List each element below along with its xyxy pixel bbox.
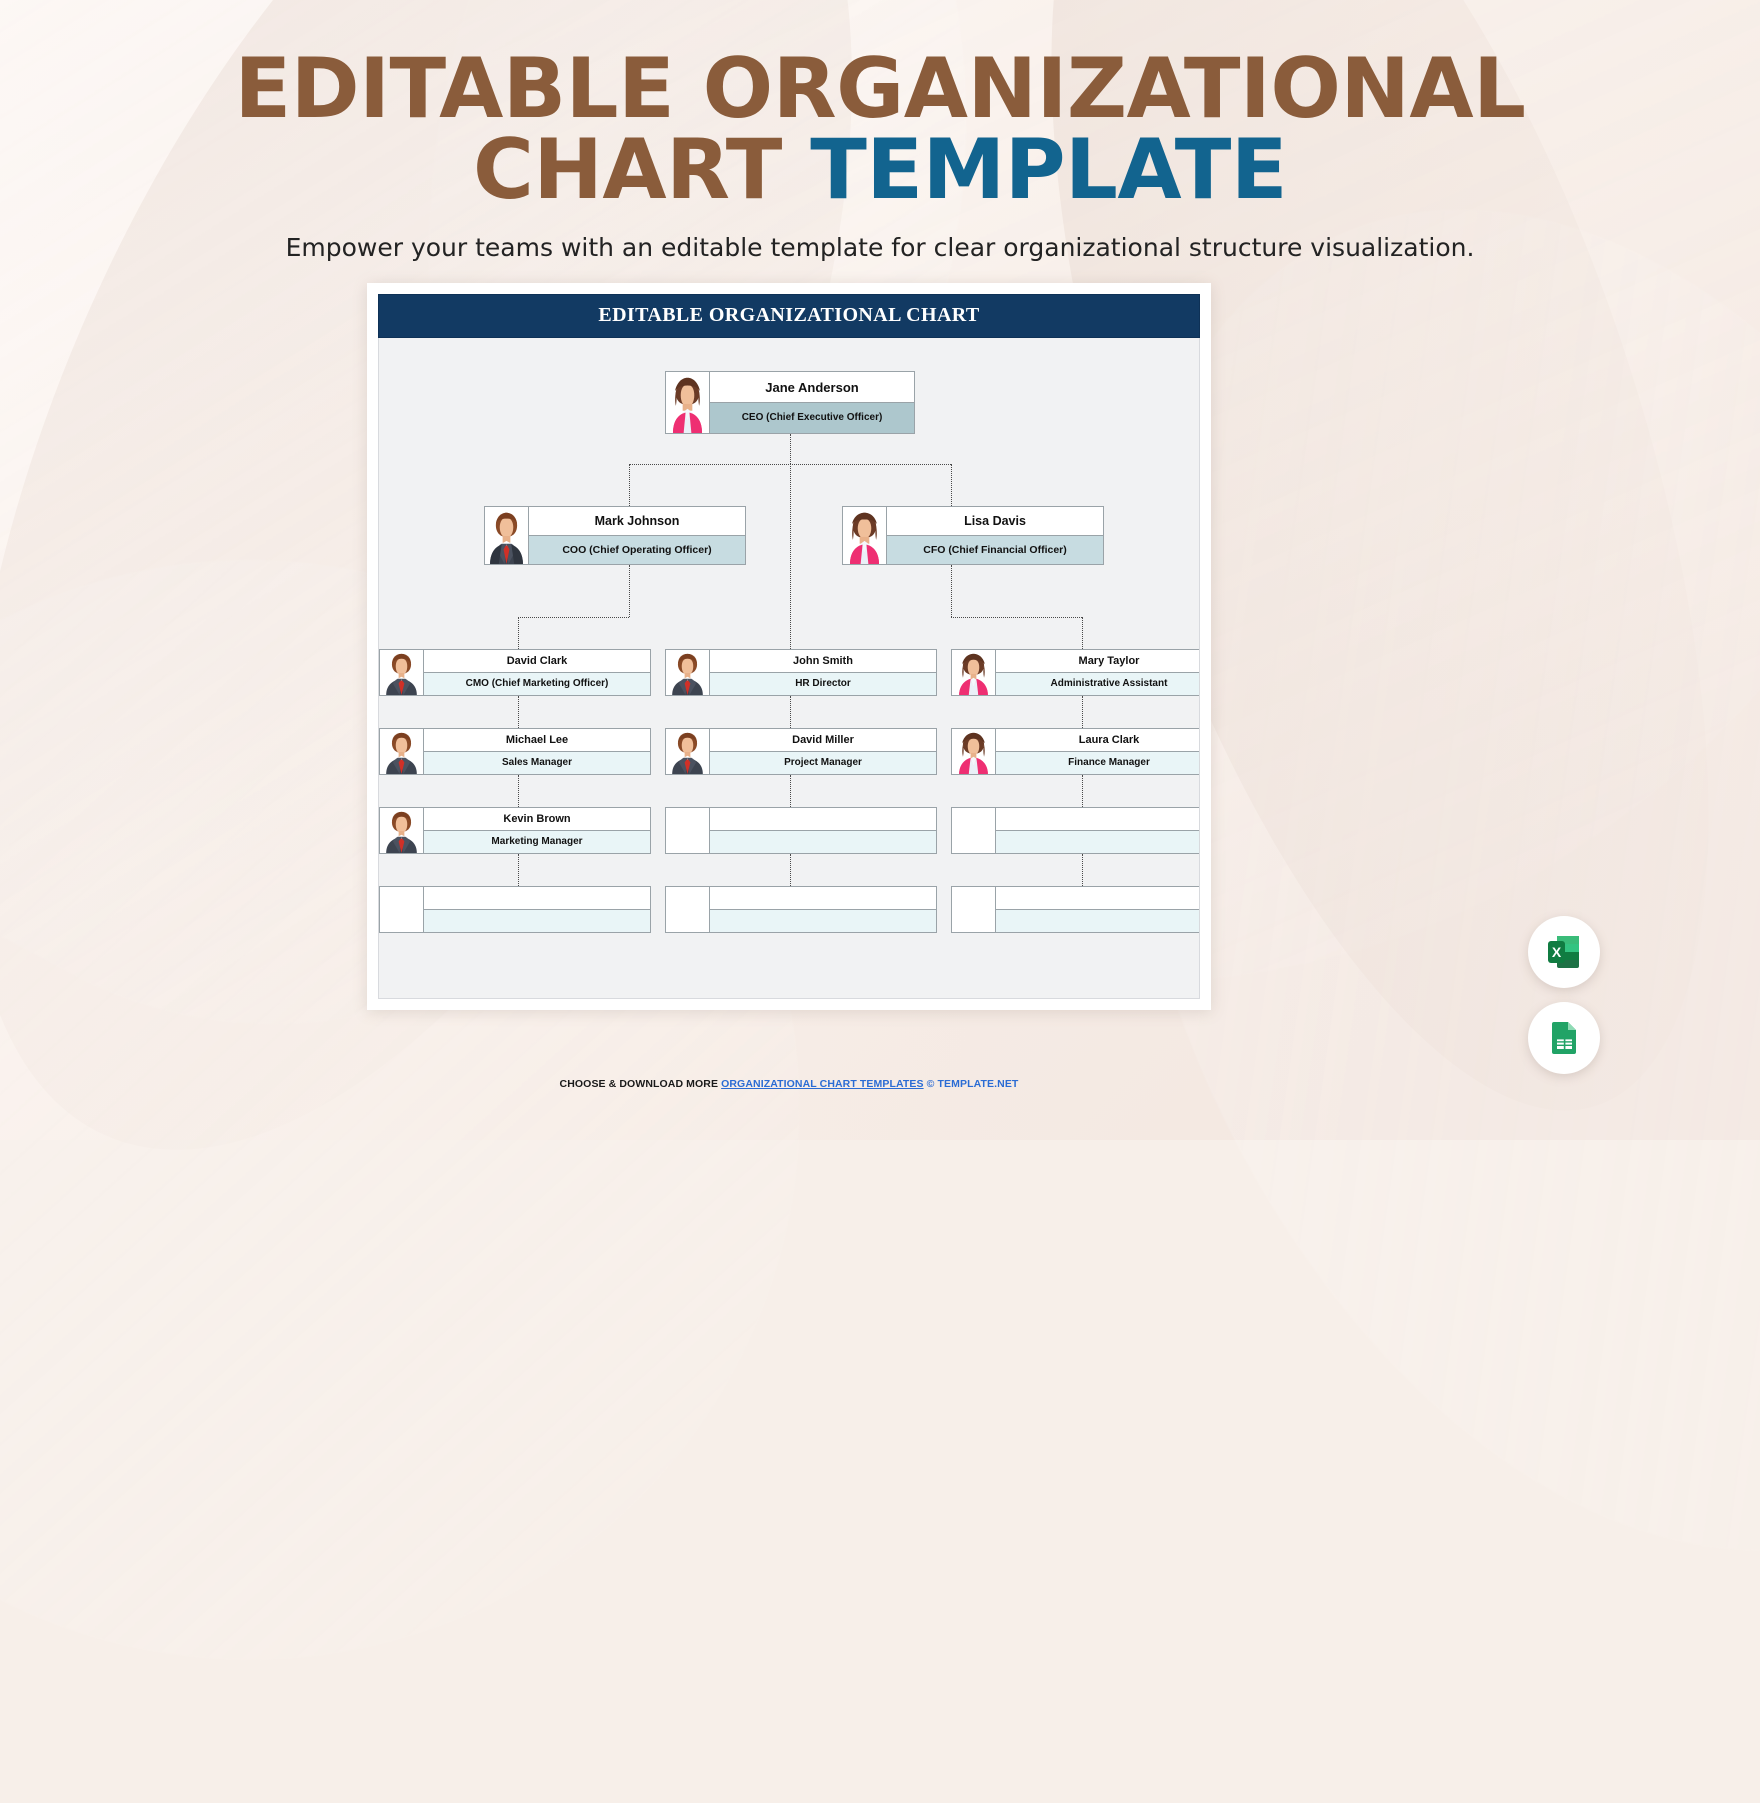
org-node-marketing-manager[interactable]: Kevin Brown Marketing Manager <box>379 807 651 854</box>
avatar-placeholder <box>952 808 996 853</box>
org-node-role: COO (Chief Operating Officer) <box>529 535 745 564</box>
org-node-name: Mark Johnson <box>529 507 745 535</box>
org-node-sales-manager[interactable]: Michael Lee Sales Manager <box>379 728 651 775</box>
org-chart-card: EDITABLE ORGANIZATIONAL CHART <box>367 283 1211 1010</box>
connector-cfo-to-admin <box>1082 617 1083 649</box>
org-node-name: Jane Anderson <box>710 372 914 402</box>
org-node-role: CFO (Chief Financial Officer) <box>887 535 1103 564</box>
connector-center-spine <box>790 464 791 649</box>
chart-canvas: Jane Anderson CEO (Chief Executive Offic… <box>378 338 1200 999</box>
avatar-female-icon <box>666 372 710 433</box>
connector-to-coo <box>629 464 630 506</box>
org-node-role <box>424 909 650 932</box>
connector-col2-chain-1 <box>790 696 791 728</box>
connector-col3-chain-2 <box>1082 775 1083 807</box>
connector-col2-chain-2 <box>790 775 791 807</box>
org-node-empty[interactable] <box>951 807 1200 854</box>
chart-title-bar: EDITABLE ORGANIZATIONAL CHART <box>378 294 1200 338</box>
org-node-name: Kevin Brown <box>424 808 650 830</box>
org-node-empty[interactable] <box>379 886 651 933</box>
avatar-placeholder <box>666 887 710 932</box>
org-node-cfo[interactable]: Lisa Davis CFO (Chief Financial Officer) <box>842 506 1104 565</box>
org-node-name <box>996 808 1200 830</box>
org-node-empty[interactable] <box>951 886 1200 933</box>
org-node-name: Lisa Davis <box>887 507 1103 535</box>
connector-cfo-down <box>951 565 952 617</box>
connector-col2-chain-3 <box>790 854 791 886</box>
svg-text:X: X <box>1552 944 1562 960</box>
avatar-female-icon <box>952 650 996 695</box>
avatar-placeholder <box>952 887 996 932</box>
org-node-role: Administrative Assistant <box>996 672 1200 695</box>
org-node-role: CEO (Chief Executive Officer) <box>710 402 914 433</box>
org-node-admin-assistant[interactable]: Mary Taylor Administrative Assistant <box>951 649 1200 696</box>
avatar-male-icon <box>666 729 710 774</box>
page-title-line2-blue: TEMPLATE <box>810 121 1287 218</box>
org-node-name <box>710 887 936 909</box>
org-node-role: Sales Manager <box>424 751 650 774</box>
org-node-name <box>996 887 1200 909</box>
org-node-cmo[interactable]: David Clark CMO (Chief Marketing Officer… <box>379 649 651 696</box>
org-node-name: Mary Taylor <box>996 650 1200 672</box>
connector-coo-bus <box>518 617 629 618</box>
page-title: EDITABLE ORGANIZATIONAL CHART TEMPLATE <box>0 48 1760 211</box>
org-node-name <box>424 887 650 909</box>
connector-col1-chain-2 <box>518 775 519 807</box>
app-icon-group: X <box>1528 916 1600 1088</box>
connector-coo-down <box>629 565 630 617</box>
footer-brand-link[interactable]: TEMPLATE.NET <box>938 1078 1019 1090</box>
avatar-male-icon <box>380 729 424 774</box>
org-node-role <box>710 830 936 853</box>
footer-copyright-symbol: © <box>927 1078 935 1090</box>
footer-prefix: CHOOSE & DOWNLOAD MORE <box>560 1078 722 1090</box>
org-node-name <box>710 808 936 830</box>
connector-col3-chain-1 <box>1082 696 1083 728</box>
avatar-male-icon <box>380 808 424 853</box>
avatar-placeholder <box>380 887 424 932</box>
connector-col1-chain-1 <box>518 696 519 728</box>
org-node-role <box>710 909 936 932</box>
org-node-name: David Clark <box>424 650 650 672</box>
org-node-role: CMO (Chief Marketing Officer) <box>424 672 650 695</box>
avatar-placeholder <box>666 808 710 853</box>
connector-ceo-down <box>790 434 791 464</box>
microsoft-excel-icon[interactable]: X <box>1528 916 1600 988</box>
avatar-female-icon <box>843 507 887 564</box>
org-node-role <box>996 830 1200 853</box>
org-node-name: Michael Lee <box>424 729 650 751</box>
org-node-role: Finance Manager <box>996 751 1200 774</box>
org-node-name: John Smith <box>710 650 936 672</box>
org-node-project-manager[interactable]: David Miller Project Manager <box>665 728 937 775</box>
org-node-empty[interactable] <box>665 886 937 933</box>
org-node-role <box>996 909 1200 932</box>
connector-cfo-bus <box>951 617 1082 618</box>
avatar-male-icon <box>666 650 710 695</box>
avatar-male-icon <box>380 650 424 695</box>
page-subtitle: Empower your teams with an editable temp… <box>0 233 1760 262</box>
page-title-line2-brown: CHART <box>473 121 810 218</box>
org-node-role: Marketing Manager <box>424 830 650 853</box>
org-node-role: Project Manager <box>710 751 936 774</box>
org-node-name: David Miller <box>710 729 936 751</box>
connector-col3-chain-3 <box>1082 854 1083 886</box>
avatar-female-icon <box>952 729 996 774</box>
org-node-ceo[interactable]: Jane Anderson CEO (Chief Executive Offic… <box>665 371 915 434</box>
connector-coo-to-cmo <box>518 617 519 649</box>
connector-col1-chain-3 <box>518 854 519 886</box>
google-sheets-icon[interactable] <box>1528 1002 1600 1074</box>
org-node-name: Laura Clark <box>996 729 1200 751</box>
org-node-role: HR Director <box>710 672 936 695</box>
org-node-coo[interactable]: Mark Johnson COO (Chief Operating Office… <box>484 506 746 565</box>
footer-templates-link[interactable]: ORGANIZATIONAL CHART TEMPLATES <box>721 1078 924 1090</box>
avatar-male-icon <box>485 507 529 564</box>
org-node-finance-manager[interactable]: Laura Clark Finance Manager <box>951 728 1200 775</box>
connector-to-cfo <box>951 464 952 506</box>
org-node-empty[interactable] <box>665 807 937 854</box>
footer-attribution: CHOOSE & DOWNLOAD MORE ORGANIZATIONAL CH… <box>367 1078 1211 1090</box>
page-headline: EDITABLE ORGANIZATIONAL CHART TEMPLATE E… <box>0 0 1760 262</box>
org-node-hr-director[interactable]: John Smith HR Director <box>665 649 937 696</box>
